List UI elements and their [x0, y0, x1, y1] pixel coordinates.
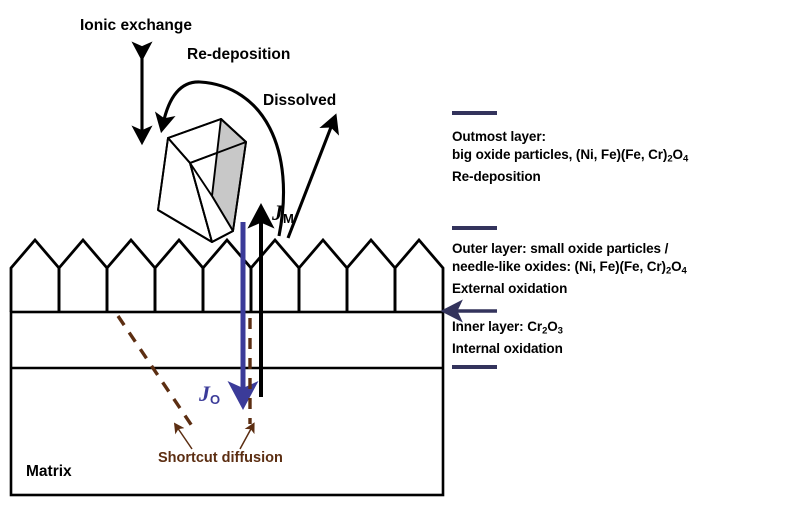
legend-outer-heading-tail: small oxide particles / — [527, 241, 669, 256]
legend-outer-layer: Outer layer: small oxide particles / nee… — [452, 240, 687, 297]
oxide-particle-cube — [158, 119, 246, 242]
legend-outmost-sub2: 4 — [683, 153, 688, 164]
legend-outer-sub2: 4 — [682, 265, 687, 276]
outer-oxide-sawtooth — [11, 240, 443, 312]
legend-outer-heading-line: Outer layer: small oxide particles / — [452, 240, 687, 258]
shortcut-diffusion-label: Shortcut diffusion — [158, 450, 283, 466]
re-deposition-label: Re-deposition — [187, 46, 290, 64]
legend-outmost-process: Re-deposition — [452, 168, 688, 186]
metal-flux-label: JM — [272, 200, 294, 226]
legend-outmost-layer: Outmost layer: big oxide particles, (Ni,… — [452, 128, 688, 185]
oxygen-flux-label: JO — [199, 381, 220, 407]
legend-inner-heading: Inner layer: — [452, 319, 524, 334]
legend-outmost-composition: big oxide particles, (Ni, Fe)(Fe, Cr)2O4 — [452, 146, 688, 168]
legend-inner-heading-line: Inner layer: Cr2O3 — [452, 318, 563, 340]
legend-outer-composition-b: O — [671, 259, 681, 274]
legend-inner-process: Internal oxidation — [452, 340, 563, 358]
legend-outmost-heading: Outmost layer: — [452, 128, 688, 146]
matrix-label: Matrix — [26, 463, 72, 481]
legend-outer-composition-a: needle-like oxides: (Ni, Fe)(Fe, Cr) — [452, 259, 666, 274]
substrate-frame — [11, 312, 443, 495]
legend-outer-composition: needle-like oxides: (Ni, Fe)(Fe, Cr)2O4 — [452, 258, 687, 280]
legend-inner-formula-a: Cr — [524, 319, 542, 334]
legend-inner-layer: Inner layer: Cr2O3 Internal oxidation — [452, 318, 563, 358]
metal-flux-subscript: M — [283, 211, 294, 226]
legend-outmost-composition-a: big oxide particles, (Ni, Fe)(Fe, Cr) — [452, 147, 667, 162]
oxygen-flux-subscript: O — [210, 392, 220, 407]
dissolved-label: Dissolved — [263, 92, 336, 110]
ionic-exchange-label: Ionic exchange — [80, 17, 192, 35]
legend-inner-sub2: 3 — [558, 326, 563, 337]
legend-outer-heading: Outer layer: — [452, 241, 527, 256]
dissolved-arrow — [288, 122, 333, 238]
oxygen-flux-symbol: J — [199, 381, 210, 406]
figure-canvas: Ionic exchange Re-deposition Dissolved M… — [0, 0, 790, 513]
legend-outmost-composition-b: O — [673, 147, 683, 162]
metal-flux-symbol: J — [272, 200, 283, 225]
legend-outer-process: External oxidation — [452, 280, 687, 298]
legend-inner-formula-b: O — [547, 319, 557, 334]
